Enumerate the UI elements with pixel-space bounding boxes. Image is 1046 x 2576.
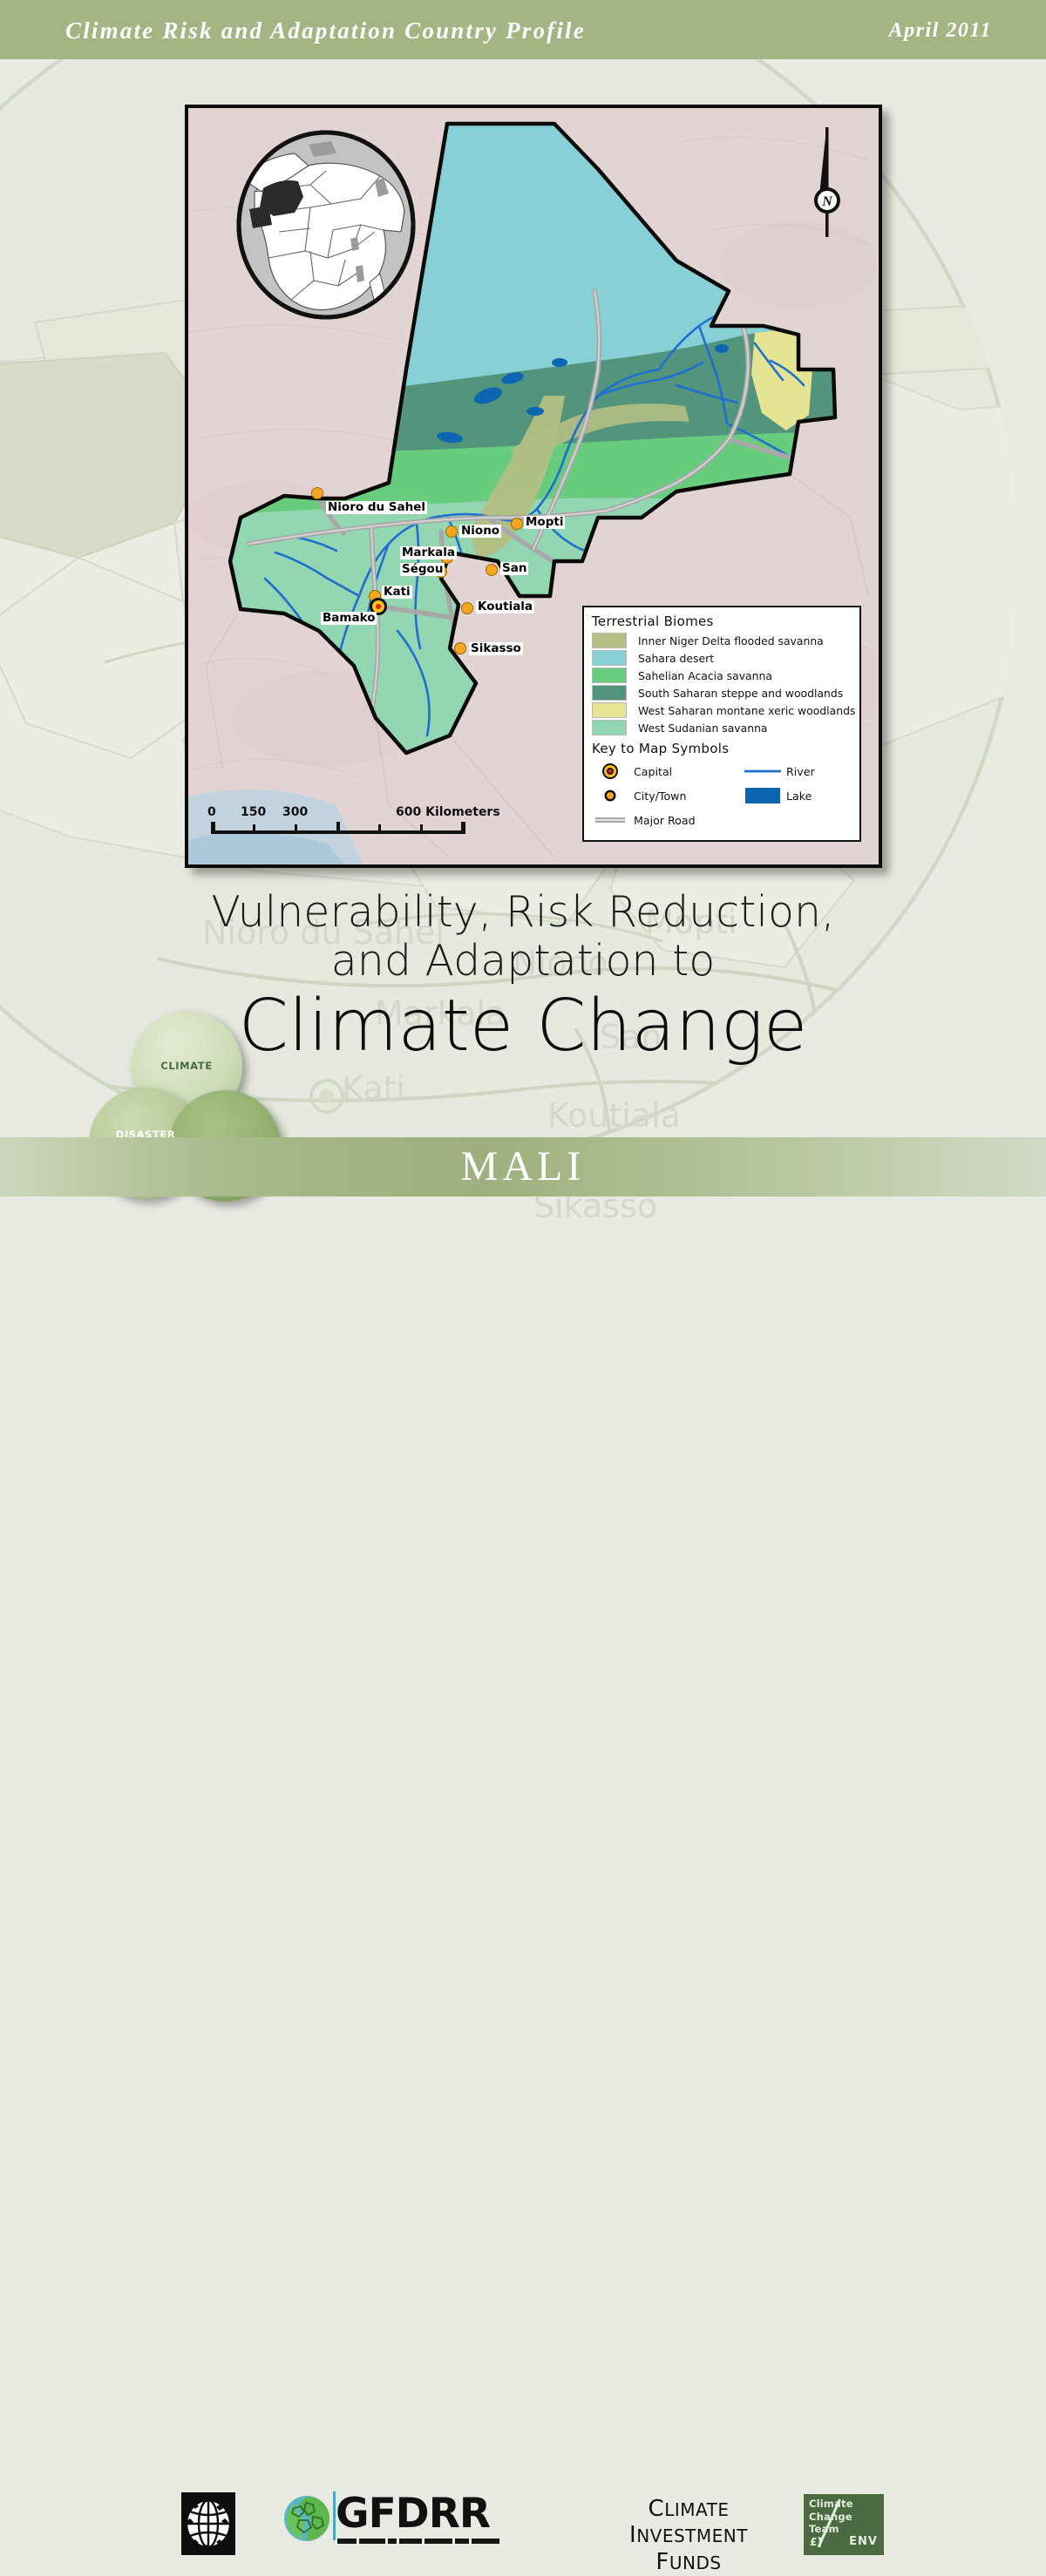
gfdrr-logo: GFDRR: [283, 2490, 510, 2558]
cif-line-2-investment: NVESTMENT: [636, 2525, 748, 2546]
legend-biome-label: Sahelian Acacia savanna: [638, 669, 772, 682]
cif-line-2-funds: UNDS: [669, 2552, 722, 2573]
legend-symbol-label: River: [786, 765, 815, 778]
page-header: Climate Risk and Adaptation Country Prof…: [0, 0, 1046, 59]
city-marker-icon: [486, 564, 498, 576]
legend-symbol-row: River: [744, 759, 815, 783]
country-name-band: MALI: [0, 1137, 1046, 1196]
legend-biome-row: South Saharan steppe and woodlands: [592, 685, 852, 701]
legend-biome-swatch: [592, 650, 627, 666]
venn-diagram: CLIMATE DISASTER RISK REDUCTION ADAPTATI…: [54, 1004, 316, 1235]
legend-symbol-row: City/Town: [592, 783, 744, 808]
africa-globe-inset: [230, 127, 422, 323]
legend-biome-row: Sahara desert: [592, 650, 852, 666]
svg-text:N: N: [821, 194, 833, 209]
legend-symbol-label: City/Town: [634, 790, 686, 803]
country-name: MALI: [0, 1142, 1046, 1190]
city-marker-icon: [461, 602, 473, 614]
legend-symbol-grid: CapitalCity/TownMajor Road RiverLake: [592, 759, 852, 832]
legend-symbols-title: Key to Map Symbols: [592, 741, 852, 756]
legend-biome-swatch: [592, 685, 627, 701]
map-frame: N Nioro du SahelNionoMoptiMarkalaSégouSa…: [185, 105, 882, 868]
capital-marker-icon: [592, 762, 628, 781]
city-label: Kati: [382, 586, 412, 599]
city-label: Niono: [459, 525, 501, 538]
climate-change-team-logo: Climate Change Team £] ENV: [804, 2494, 884, 2555]
city-marker-icon: [445, 525, 458, 538]
header-date: April 2011: [889, 19, 992, 43]
legend-symbol-label: Lake: [786, 790, 812, 803]
legend-biome-label: Sahara desert: [638, 652, 714, 665]
legend-biome-swatch: [592, 720, 627, 736]
legend-biome-label: West Saharan montane xeric woodlands: [638, 704, 855, 717]
legend-biome-list: Inner Niger Delta flooded savannaSahara …: [592, 633, 852, 736]
city-label: Koutiala: [476, 600, 534, 613]
gfdrr-wordmark: GFDRR: [336, 2493, 490, 2534]
legend-biome-label: South Saharan steppe and woodlands: [638, 687, 843, 700]
title-line-1: Vulnerability, Risk Reduction,: [0, 889, 1046, 936]
legend-biome-swatch: [592, 702, 627, 718]
cif-line-1-cap: C: [649, 2496, 665, 2522]
venn-circles-graphic: [54, 1004, 316, 1235]
scale-bar-label: 300: [282, 805, 308, 819]
cct-line-3: Team: [809, 2523, 853, 2536]
watermark-city-label: Koutiala: [547, 1096, 681, 1135]
city-marker-icon: [511, 518, 523, 530]
map-scale-bar: 0150300600 Kilometers: [206, 805, 511, 840]
cif-line-2-cap-f2: F: [655, 2549, 669, 2575]
world-bank-logo: [181, 2492, 235, 2555]
cct-line-2: Change: [809, 2511, 853, 2524]
cif-line-1-rest: LIMATE: [664, 2499, 729, 2520]
city-label: Sikasso: [469, 642, 523, 655]
cct-line-1: Climate: [809, 2498, 853, 2511]
legend-symbols-right: RiverLake: [744, 759, 815, 832]
legend-biome-row: West Saharan montane xeric woodlands: [592, 702, 852, 718]
city-marker-icon: [311, 487, 323, 499]
header-title: Climate Risk and Adaptation Country Prof…: [65, 17, 586, 44]
map-legend: Terrestrial Biomes Inner Niger Delta flo…: [582, 606, 861, 842]
legend-biome-label: West Sudanian savanna: [638, 722, 768, 735]
cct-env-label: ENV: [849, 2535, 878, 2548]
city-label: Ségou: [400, 563, 445, 576]
watermark-city-label: Kati: [342, 1069, 405, 1108]
legend-biome-swatch: [592, 633, 627, 648]
legend-biomes-title: Terrestrial Biomes: [592, 613, 852, 629]
title-line-2: and Adaptation to: [0, 938, 1046, 985]
legend-biome-row: West Sudanian savanna: [592, 720, 852, 736]
city-marker-icon: [592, 789, 628, 803]
legend-symbol-label: Major Road: [634, 814, 696, 827]
legend-symbol-row: Major Road: [592, 808, 744, 832]
city-label: Markala: [400, 546, 457, 559]
legend-biome-swatch: [592, 668, 627, 683]
north-arrow-icon: N: [805, 120, 849, 242]
lake-swatch-icon: [744, 788, 781, 803]
river-line-icon: [744, 767, 781, 776]
legend-symbols-left: CapitalCity/TownMajor Road: [592, 759, 744, 832]
cif-line-1: CLIMATE: [601, 2497, 776, 2522]
scale-bar-label: 150: [241, 805, 266, 819]
city-label: Nioro du Sahel: [326, 501, 427, 514]
gfdrr-globe-icon: [283, 2494, 330, 2543]
legend-symbol-label: Capital: [634, 765, 672, 778]
venn-label-climate: CLIMATE: [152, 1060, 221, 1073]
capital-marker-center: [376, 604, 381, 609]
cif-line-2-cap-i: I: [629, 2522, 636, 2548]
legend-symbol-row: Capital: [592, 759, 744, 783]
scale-bar-label: 0: [207, 805, 216, 819]
legend-biome-label: Inner Niger Delta flooded savanna: [638, 634, 824, 647]
city-label: Mopti: [524, 516, 565, 529]
footer-logos: GFDRR CLIMATE INVESTMENT FUNDS Climate C…: [0, 1237, 1046, 1353]
scale-bar-graphic: [206, 820, 511, 837]
cct-mark: £]: [810, 2536, 822, 2548]
legend-biome-row: Sahelian Acacia savanna: [592, 668, 852, 683]
legend-symbol-row: Lake: [744, 783, 815, 808]
gfdrr-tagline: [337, 2538, 510, 2545]
mali-map-panel: N Nioro du SahelNionoMoptiMarkalaSégouSa…: [185, 105, 882, 868]
cif-line-2: INVESTMENT FUNDS: [601, 2522, 776, 2576]
city-label: San: [500, 562, 528, 575]
scale-bar-label: 600 Kilometers: [396, 805, 500, 819]
cct-wordmark: Climate Change Team: [809, 2498, 853, 2536]
city-marker-icon: [454, 642, 466, 654]
city-label: Bamako: [321, 612, 377, 625]
major-road-icon: [592, 816, 628, 824]
legend-biome-row: Inner Niger Delta flooded savanna: [592, 633, 852, 648]
climate-investment-funds-logo: CLIMATE INVESTMENT FUNDS: [601, 2497, 776, 2551]
